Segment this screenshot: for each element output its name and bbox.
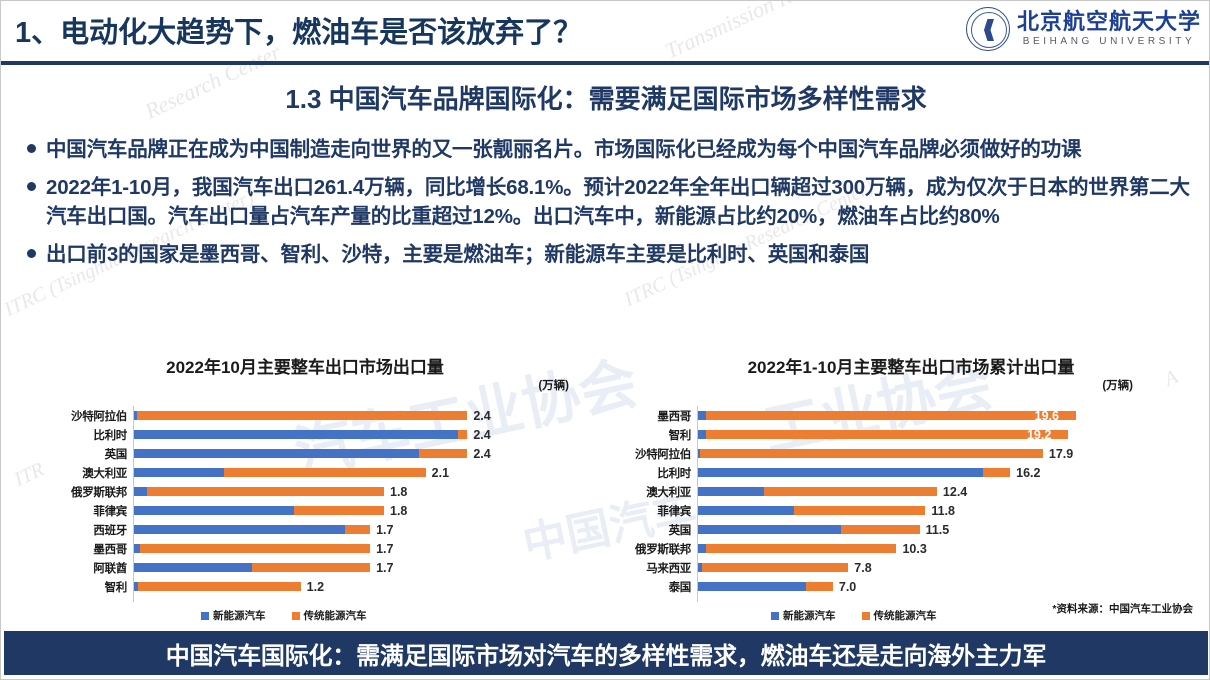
chart-unit-label: (万辆) <box>538 377 569 393</box>
chart-value-label: 1.8 <box>390 482 407 501</box>
bullet-dot-icon <box>27 182 36 191</box>
chart-category-label: 墨西哥 <box>25 541 133 557</box>
bar-segment-nev <box>134 563 252 572</box>
bullet-item: 中国汽车品牌正在成为中国制造走向世界的又一张靓丽名片。市场国际化已经成为每个中国… <box>19 135 1199 164</box>
chart-bar-row: 马来西亚7.8 <box>623 558 1199 577</box>
bar-segment-nev <box>698 411 706 420</box>
chart-stacked-bar[interactable] <box>698 544 896 553</box>
university-seal-icon <box>966 7 1010 51</box>
chart-category-label: 智利 <box>623 427 697 443</box>
chart-category-label: 澳大利亚 <box>25 465 133 481</box>
bar-segment-nev <box>698 468 983 477</box>
chart-bar-track: 1.7 <box>133 539 585 558</box>
chart-value-label: 19.2 <box>1027 425 1051 444</box>
chart-value-label: 2.4 <box>473 425 490 444</box>
chart-bar-track: 2.1 <box>133 463 585 482</box>
chart-stacked-bar[interactable] <box>134 430 467 439</box>
bullet-text: 中国汽车品牌正在成为中国制造走向世界的又一张靓丽名片。市场国际化已经成为每个中国… <box>46 135 1081 164</box>
chart-category-label: 澳大利亚 <box>623 484 697 500</box>
chart-bar-row: 沙特阿拉伯17.9 <box>623 444 1199 463</box>
slide-root: Research Center Transmission Research Ce… <box>0 0 1210 680</box>
bullet-dot-icon <box>27 144 36 153</box>
chart-bar-row: 墨西哥1.7 <box>25 539 585 558</box>
chart-bar-track: 2.4 <box>133 444 585 463</box>
page-title: 1、电动化大趋势下，燃油车是否该放弃了？ <box>15 9 582 51</box>
bar-segment-nev <box>698 525 841 534</box>
chart-bar-track: 1.8 <box>133 501 585 520</box>
bullet-item: 出口前3的国家是墨西哥、智利、沙特，主要是燃油车；新能源车主要是比利时、英国和泰… <box>19 240 1199 269</box>
chart-title: 2022年10月主要整车出口市场出口量 <box>25 353 585 378</box>
chart-bar-track: 1.2 <box>133 577 585 596</box>
chart-stacked-bar[interactable] <box>134 506 384 515</box>
bar-segment-ice <box>702 563 848 572</box>
chart-bar-row: 比利时2.4 <box>25 425 585 444</box>
chart-legend: 新能源汽车 传统能源汽车 <box>201 608 585 623</box>
chart-stacked-bar[interactable] <box>698 411 1076 420</box>
bullet-text: 2022年1-10月，我国汽车出口261.4万辆，同比增长68.1%。预计202… <box>46 173 1199 231</box>
chart-stacked-bar[interactable] <box>698 506 925 515</box>
bar-segment-ice <box>806 582 833 591</box>
chart-bar-track: 7.0 <box>697 577 1199 596</box>
chart-stacked-bar[interactable] <box>134 487 384 496</box>
bar-segment-ice <box>147 487 385 496</box>
chart-value-label: 1.7 <box>376 520 393 539</box>
logo-name-cn: 北京航空航天大学 <box>1017 11 1201 33</box>
chart-stacked-bar[interactable] <box>698 430 1068 439</box>
legend-swatch-nev <box>771 612 779 620</box>
bar-segment-ice <box>706 544 897 553</box>
chart-value-label: 2.4 <box>473 444 490 463</box>
chart-unit-label: (万辆) <box>1102 377 1133 393</box>
chart-category-label: 俄罗斯联邦 <box>623 541 697 557</box>
chart-bar-row: 澳大利亚12.4 <box>623 482 1199 501</box>
chart-bar-track: 17.9 <box>697 444 1199 463</box>
footer-text: 中国汽车国际化：需满足国际市场对汽车的多样性需求，燃油车还是走向海外主力军 <box>166 636 1047 671</box>
chart-bar-row: 比利时16.2 <box>623 463 1199 482</box>
bar-segment-ice <box>294 506 384 515</box>
chart-bar-row: 澳大利亚2.1 <box>25 463 585 482</box>
chart-bar-track: 2.4 <box>133 425 585 444</box>
chart-category-label: 英国 <box>623 522 697 538</box>
bar-segment-ice <box>138 582 301 591</box>
section-subtitle: 1.3 中国汽车品牌国际化：需要满足国际市场多样性需求 <box>1 79 1210 116</box>
chart-bar-row: 智利19.2 <box>623 425 1199 444</box>
bar-segment-nev <box>134 506 294 515</box>
bar-segment-ice <box>224 468 425 477</box>
chart-value-label: 7.8 <box>854 558 871 577</box>
chart-bar-track: 19.6 <box>697 406 1199 425</box>
bar-segment-ice <box>706 430 1068 439</box>
bar-segment-nev <box>698 582 806 591</box>
chart-bar-track: 19.2 <box>697 425 1199 444</box>
chart-value-label: 10.3 <box>902 539 926 558</box>
chart-value-label: 12.4 <box>943 482 967 501</box>
chart-stacked-bar[interactable] <box>698 525 920 534</box>
legend-item-ice: 传统能源汽车 <box>292 608 367 623</box>
bar-segment-nev <box>698 506 794 515</box>
chart-bar-track: 12.4 <box>697 482 1199 501</box>
chart-stacked-bar[interactable] <box>134 525 370 534</box>
bar-segment-ice <box>700 449 1043 458</box>
chart-bar-row: 俄罗斯联邦10.3 <box>623 539 1199 558</box>
chart-bar-row: 俄罗斯联邦1.8 <box>25 482 585 501</box>
chart-value-label: 1.7 <box>376 558 393 577</box>
chart-category-label: 菲律宾 <box>25 503 133 519</box>
legend-label-nev: 新能源汽车 <box>213 608 266 623</box>
chart-value-label: 17.9 <box>1049 444 1073 463</box>
bar-segment-ice <box>140 544 371 553</box>
chart-bar-row: 英国11.5 <box>623 520 1199 539</box>
chart-stacked-bar[interactable] <box>134 563 370 572</box>
chart-bar-track: 7.8 <box>697 558 1199 577</box>
legend-swatch-ice <box>862 612 870 620</box>
bar-segment-ice <box>419 449 468 458</box>
chart-title: 2022年1-10月主要整车出口市场累计出口量 <box>623 353 1199 378</box>
bar-segment-ice <box>252 563 370 572</box>
bar-segment-ice <box>458 430 468 439</box>
chart-stacked-bar[interactable] <box>134 411 467 420</box>
slide-header: 1、电动化大趋势下，燃油车是否该放弃了？ 北京航空航天大学 BEIHANG UN… <box>1 1 1210 63</box>
legend-swatch-nev <box>201 612 209 620</box>
chart-category-label: 沙特阿拉伯 <box>623 446 697 462</box>
bar-segment-ice <box>983 468 1010 477</box>
legend-item-nev: 新能源汽车 <box>771 608 836 623</box>
chart-stacked-bar[interactable] <box>698 582 833 591</box>
chart-bar-track: 1.7 <box>133 558 585 577</box>
chart-category-label: 阿联酋 <box>25 560 133 576</box>
chart-stacked-bar[interactable] <box>698 563 848 572</box>
chart-stacked-bar[interactable] <box>134 468 426 477</box>
bar-segment-nev <box>698 430 706 439</box>
chart-bar-track: 1.8 <box>133 482 585 501</box>
bar-segment-nev <box>134 468 224 477</box>
header-divider <box>1 61 1210 65</box>
chart-bar-row: 阿联酋1.7 <box>25 558 585 577</box>
bar-segment-nev <box>134 449 419 458</box>
chart-bar-row: 墨西哥19.6 <box>623 406 1199 425</box>
chart-bar-row: 西班牙1.7 <box>25 520 585 539</box>
chart-plot-area: 沙特阿拉伯2.4比利时2.4英国2.4澳大利亚2.1俄罗斯联邦1.8菲律宾1.8… <box>25 406 585 602</box>
bar-segment-ice <box>794 506 925 515</box>
bullet-dot-icon <box>27 249 36 258</box>
chart-plot-area: 墨西哥19.6智利19.2沙特阿拉伯17.9比利时16.2澳大利亚12.4菲律宾… <box>623 406 1199 602</box>
bar-segment-ice <box>764 487 937 496</box>
chart-category-label: 英国 <box>25 446 133 462</box>
chart-monthly-exports: 2022年10月主要整车出口市场出口量 (万辆) 沙特阿拉伯2.4比利时2.4英… <box>25 353 585 621</box>
chart-category-label: 墨西哥 <box>623 408 697 424</box>
chart-bar-track: 16.2 <box>697 463 1199 482</box>
bullet-list: 中国汽车品牌正在成为中国制造走向世界的又一张靓丽名片。市场国际化已经成为每个中国… <box>19 135 1199 278</box>
chart-category-label: 智利 <box>25 579 133 595</box>
chart-bar-row: 菲律宾11.8 <box>623 501 1199 520</box>
chart-value-label: 19.6 <box>1035 406 1059 425</box>
bar-segment-ice <box>137 411 468 420</box>
chart-stacked-bar[interactable] <box>134 582 301 591</box>
chart-category-label: 泰国 <box>623 579 697 595</box>
legend-swatch-ice <box>292 612 300 620</box>
chart-value-label: 16.2 <box>1016 463 1040 482</box>
chart-category-label: 俄罗斯联邦 <box>25 484 133 500</box>
bar-segment-nev <box>134 487 147 496</box>
chart-value-label: 1.8 <box>390 501 407 520</box>
chart-value-label: 11.8 <box>931 501 955 520</box>
legend-item-ice: 传统能源汽车 <box>862 608 937 623</box>
bar-segment-ice <box>345 525 370 534</box>
chart-bar-track: 11.8 <box>697 501 1199 520</box>
chart-value-label: 2.1 <box>432 463 449 482</box>
chart-bar-row: 沙特阿拉伯2.4 <box>25 406 585 425</box>
chart-bar-track: 2.4 <box>133 406 585 425</box>
chart-category-label: 沙特阿拉伯 <box>25 408 133 424</box>
chart-stacked-bar[interactable] <box>134 544 370 553</box>
chart-bar-row: 智利1.2 <box>25 577 585 596</box>
chart-bar-row: 泰国7.0 <box>623 577 1199 596</box>
chart-bar-track: 11.5 <box>697 520 1199 539</box>
chart-category-label: 马来西亚 <box>623 560 697 576</box>
bar-segment-nev <box>698 544 706 553</box>
chart-value-label: 2.4 <box>473 406 490 425</box>
chart-category-label: 西班牙 <box>25 522 133 538</box>
legend-label-nev: 新能源汽车 <box>783 608 836 623</box>
legend-label-ice: 传统能源汽车 <box>874 608 937 623</box>
bar-segment-nev <box>134 525 345 534</box>
chart-category-label: 比利时 <box>623 465 697 481</box>
chart-category-label: 比利时 <box>25 427 133 443</box>
chart-value-label: 1.2 <box>307 577 324 596</box>
chart-stacked-bar[interactable] <box>698 449 1043 458</box>
chart-category-label: 菲律宾 <box>623 503 697 519</box>
bar-segment-ice <box>841 525 920 534</box>
source-note: *资料来源：中国汽车工业协会 <box>1052 601 1193 616</box>
bullet-text: 出口前3的国家是墨西哥、智利、沙特，主要是燃油车；新能源车主要是比利时、英国和泰… <box>46 240 869 269</box>
chart-bar-row: 英国2.4 <box>25 444 585 463</box>
chart-stacked-bar[interactable] <box>134 449 467 458</box>
chart-bar-track: 10.3 <box>697 539 1199 558</box>
university-logo: 北京航空航天大学 BEIHANG UNIVERSITY <box>966 7 1201 51</box>
footer-banner: 中国汽车国际化：需满足国际市场对汽车的多样性需求，燃油车还是走向海外主力军 <box>4 631 1208 675</box>
legend-label-ice: 传统能源汽车 <box>304 608 367 623</box>
chart-bar-row: 菲律宾1.8 <box>25 501 585 520</box>
legend-item-nev: 新能源汽车 <box>201 608 266 623</box>
chart-value-label: 11.5 <box>926 520 950 539</box>
chart-cumulative-exports: 2022年1-10月主要整车出口市场累计出口量 (万辆) 墨西哥19.6智利19… <box>623 353 1199 621</box>
logo-name-en: BEIHANG UNIVERSITY <box>1017 37 1201 47</box>
bar-segment-nev <box>698 487 764 496</box>
bar-segment-nev <box>134 430 458 439</box>
chart-value-label: 1.7 <box>376 539 393 558</box>
chart-bar-track: 1.7 <box>133 520 585 539</box>
bullet-item: 2022年1-10月，我国汽车出口261.4万辆，同比增长68.1%。预计202… <box>19 173 1199 231</box>
chart-value-label: 7.0 <box>839 577 856 596</box>
bar-segment-ice <box>706 411 1076 420</box>
chart-stacked-bar[interactable] <box>698 487 937 496</box>
chart-stacked-bar[interactable] <box>698 468 1010 477</box>
